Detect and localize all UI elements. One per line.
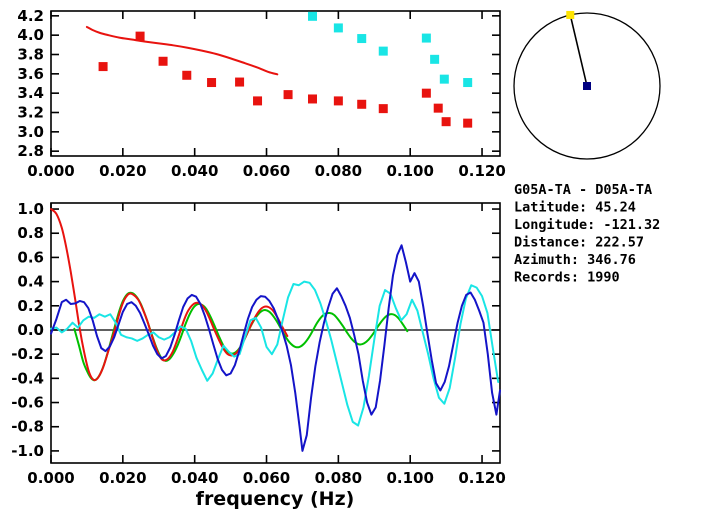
records-row: Records: 1990 <box>514 270 620 286</box>
top-panel-tick-labels: 0.0000.0200.0400.0600.0800.1000.1202.83.… <box>17 7 505 180</box>
y-tick-label: 3.6 <box>17 65 44 83</box>
data-point-marker <box>379 47 388 56</box>
bottom-panel-frame <box>51 203 500 463</box>
data-point-marker <box>253 96 262 105</box>
x-tick-label: 0.100 <box>386 469 433 487</box>
data-point-marker <box>440 75 449 84</box>
y-tick-label: 4.0 <box>17 26 44 44</box>
x-tick-label: 0.120 <box>458 162 505 180</box>
bottom-panel: 0.0000.0200.0400.0600.0800.1000.120-1.0-… <box>11 200 506 510</box>
y-tick-label: 3.2 <box>17 104 44 122</box>
data-point-marker <box>463 119 472 128</box>
data-point-marker <box>357 100 366 109</box>
azimuth-diagram <box>514 11 660 159</box>
y-tick-label: -0.8 <box>11 418 44 436</box>
y-tick-label: -0.2 <box>11 345 44 363</box>
data-point-marker <box>422 89 431 98</box>
x-tick-label: 0.080 <box>315 469 362 487</box>
seismic-dispersion-figure: 0.0000.0200.0400.0600.0800.1000.1202.83.… <box>0 0 703 519</box>
data-point-marker <box>334 23 343 32</box>
y-tick-label: -0.4 <box>11 369 44 387</box>
x-tick-label: 0.100 <box>386 162 433 180</box>
data-point-marker <box>207 78 216 87</box>
azimuth-radius-line <box>570 15 587 86</box>
x-tick-label: 0.080 <box>315 162 362 180</box>
data-point-marker <box>379 104 388 113</box>
x-tick-label: 0.000 <box>27 162 74 180</box>
x-axis-label: frequency (Hz) <box>196 488 355 510</box>
y-tick-label: 0.8 <box>17 224 44 242</box>
data-point-marker <box>430 55 439 64</box>
data-point-marker <box>99 62 108 71</box>
data-point-marker <box>434 104 443 113</box>
y-tick-label: 4.2 <box>17 7 44 25</box>
azimuth-center-marker <box>583 82 591 90</box>
figure-root: 0.0000.0200.0400.0600.0800.1000.1202.83.… <box>0 0 703 519</box>
dispersion-reference-curve <box>87 27 277 74</box>
y-tick-label: 0.6 <box>17 248 44 266</box>
data-point-marker <box>442 117 451 126</box>
data-point-marker <box>308 12 317 21</box>
y-tick-label: 1.0 <box>17 200 44 218</box>
x-tick-label: 0.060 <box>243 162 290 180</box>
data-point-marker <box>334 96 343 105</box>
data-point-marker <box>308 94 317 103</box>
x-tick-label: 0.040 <box>171 469 218 487</box>
top-panel-ticks <box>51 11 500 156</box>
data-point-marker <box>284 90 293 99</box>
y-tick-label: 0.2 <box>17 297 44 315</box>
data-point-marker <box>463 78 472 87</box>
x-tick-label: 0.060 <box>243 469 290 487</box>
y-tick-label: -1.0 <box>11 442 44 460</box>
y-tick-label: 3.0 <box>17 123 44 141</box>
longitude-row: Longitude: -121.32 <box>514 217 660 233</box>
station-pair-label: G05A-TA - D05A-TA <box>514 182 652 198</box>
x-tick-label: 0.000 <box>27 469 74 487</box>
x-tick-label: 0.020 <box>99 469 146 487</box>
bottom-panel-tick-labels: 0.0000.0200.0400.0600.0800.1000.120-1.0-… <box>11 200 506 487</box>
azimuth-station-marker <box>566 11 574 19</box>
y-tick-label: 0.4 <box>17 273 44 291</box>
top-panel-frame <box>51 11 500 156</box>
y-tick-label: -0.6 <box>11 394 44 412</box>
x-tick-label: 0.040 <box>171 162 218 180</box>
data-point-marker <box>235 78 244 87</box>
top-panel-curves <box>87 27 277 74</box>
info-panel: G05A-TA - D05A-TALatitude: 45.24Longitud… <box>514 182 660 286</box>
y-tick-label: 2.8 <box>17 142 44 160</box>
data-point-marker <box>159 57 168 66</box>
data-point-marker <box>136 32 145 41</box>
azimuth-row: Azimuth: 346.76 <box>514 252 636 268</box>
latitude-row: Latitude: 45.24 <box>514 200 636 216</box>
bottom-panel-ticks <box>51 203 500 463</box>
y-tick-label: 3.8 <box>17 46 44 64</box>
narrowband-red-trace <box>51 209 287 380</box>
y-tick-label: 0.0 <box>17 321 44 339</box>
y-tick-label: 3.4 <box>17 84 44 102</box>
data-point-marker <box>182 71 191 80</box>
top-panel: 0.0000.0200.0400.0600.0800.1000.1202.83.… <box>17 7 505 180</box>
distance-row: Distance: 222.57 <box>514 235 644 251</box>
top-panel-markers <box>99 12 473 128</box>
data-point-marker <box>422 34 431 43</box>
x-tick-label: 0.120 <box>458 469 505 487</box>
x-tick-label: 0.020 <box>99 162 146 180</box>
data-point-marker <box>357 34 366 43</box>
